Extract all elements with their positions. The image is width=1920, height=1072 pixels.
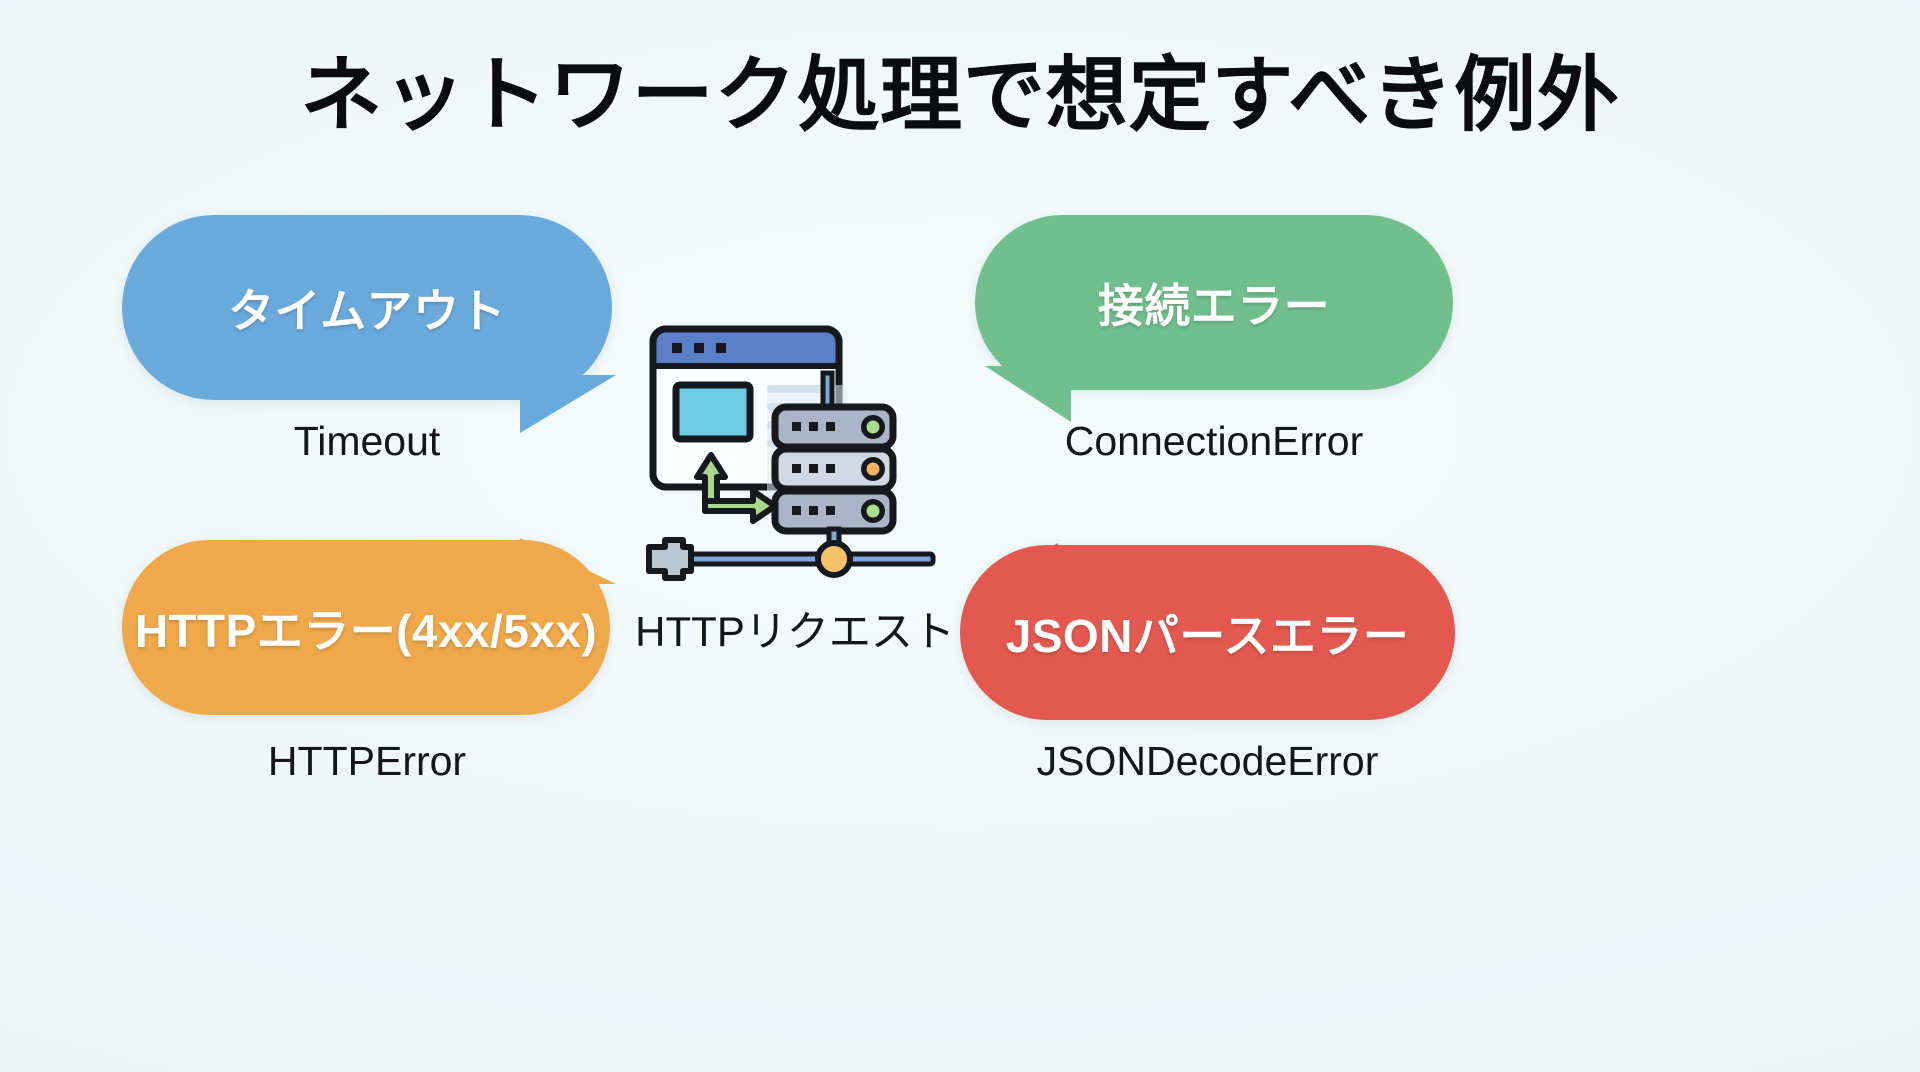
bubble-http-error-label: HTTPエラー(4xx/5xx): [135, 595, 597, 661]
bubble-json-parse-error-label: JSONパースエラー: [1006, 600, 1410, 666]
bubble-connection-error-tail: [985, 366, 1071, 422]
http-request-illustration: [645, 315, 945, 595]
network-cable-icon: [649, 529, 933, 578]
bubble-json-parse-error-tail: [972, 543, 1058, 589]
page-title: ネットワーク処理で想定すべき例外: [0, 52, 1920, 141]
caption-timeout: Timeout: [122, 418, 612, 465]
bubble-connection-error: 接続エラー: [975, 215, 1453, 390]
caption-http-error: HTTPError: [122, 738, 612, 785]
bubble-timeout: タイムアウト: [122, 215, 612, 400]
caption-connection-error: ConnectionError: [975, 418, 1453, 465]
bubble-timeout-label: タイムアウト: [228, 275, 506, 341]
center-caption-http-request: HTTPリクエスト: [600, 598, 990, 659]
bubble-http-error-tail: [520, 538, 616, 584]
caption-json-decode-error: JSONDecodeError: [960, 738, 1455, 785]
bubble-connection-error-label: 接続エラー: [1098, 270, 1330, 336]
